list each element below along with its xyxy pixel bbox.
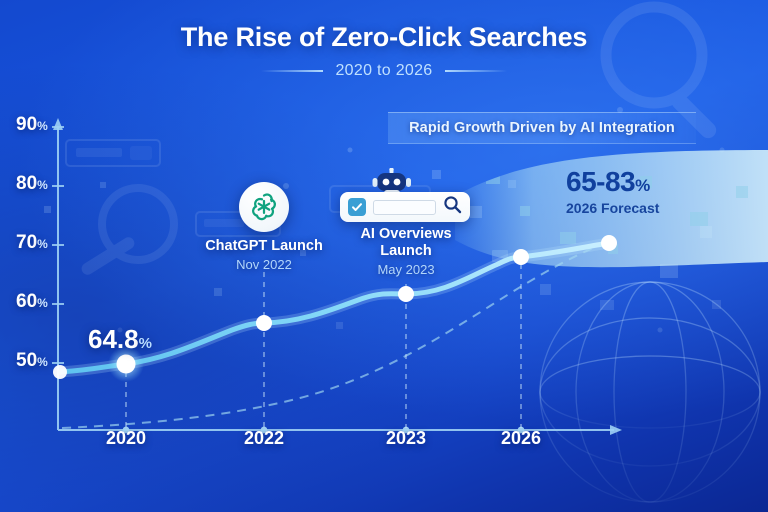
forecast-label: 2026 Forecast (566, 200, 659, 216)
y-axis-arrow (53, 118, 63, 130)
page-subtitle: 2020 to 2026 (335, 62, 432, 80)
ai-overviews-searchbar-icon[interactable] (340, 192, 470, 222)
y-tick-90: 90% (16, 114, 48, 136)
subtitle-rule-left (261, 70, 323, 72)
x-tick-2023: 2023 (386, 428, 426, 449)
chatgpt-logo-icon (239, 182, 289, 232)
x-tick-2020: 2020 (106, 428, 146, 449)
event-date-ai-overviews: May 2023 (338, 262, 474, 277)
event-title-ai-overviews: AI Overviews Launch (338, 226, 474, 260)
event-annotation-ai-overviews: AI Overviews Launch May 2023 (338, 226, 474, 277)
marker-end (601, 235, 617, 251)
forecast-range-row: 65-83% (566, 166, 659, 198)
marker-2020 (117, 355, 136, 374)
marker-2022 (256, 315, 272, 331)
y-tick-80: 80% (16, 173, 48, 195)
infographic-canvas: The Rise of Zero-Click Searches 2020 to … (0, 0, 768, 512)
marker-start (53, 365, 67, 379)
chatgpt-glyph (247, 190, 281, 224)
magnifier-watermark-left-icon (79, 188, 174, 277)
x-tick-2022: 2022 (244, 428, 284, 449)
event-date-chatgpt: Nov 2022 (184, 257, 344, 272)
chart-axes (58, 126, 614, 430)
x-axis-ticks (123, 427, 525, 434)
check-glyph (351, 201, 363, 213)
y-tick-60: 60% (16, 291, 48, 313)
magnifier-glyph (443, 195, 462, 214)
x-tick-2026: 2026 (501, 428, 541, 449)
event-droplines (126, 264, 521, 428)
search-input[interactable] (373, 200, 436, 215)
current-value-callout: 64.8% (88, 324, 152, 355)
event-title-chatgpt: ChatGPT Launch (184, 238, 344, 255)
forecast-range: 65-83 (566, 166, 635, 197)
y-tick-70: 70% (16, 232, 48, 254)
subtitle-row: 2020 to 2026 (0, 62, 768, 80)
growth-banner: Rapid Growth Driven by AI Integration (388, 112, 696, 144)
event-annotation-chatgpt: ChatGPT Launch Nov 2022 (184, 182, 344, 272)
title-block: The Rise of Zero-Click Searches 2020 to … (0, 22, 768, 80)
x-axis-arrow (610, 425, 622, 435)
forecast-unit: % (635, 176, 650, 195)
marker-2026 (513, 249, 529, 265)
current-value-unit: % (139, 335, 152, 352)
y-tick-50: 50% (16, 350, 48, 372)
current-value: 64.8 (88, 324, 139, 354)
forecast-callout: 65-83% 2026 Forecast (566, 166, 659, 216)
y-axis-ticks (52, 127, 64, 363)
growth-banner-text: Rapid Growth Driven by AI Integration (409, 120, 675, 136)
subtitle-rule-right (445, 70, 507, 72)
page-title: The Rise of Zero-Click Searches (0, 22, 768, 53)
marker-2023 (398, 286, 414, 302)
globe-wireframe-icon (540, 282, 760, 502)
checkbox-checked-icon[interactable] (348, 198, 366, 216)
search-icon[interactable] (443, 195, 462, 219)
